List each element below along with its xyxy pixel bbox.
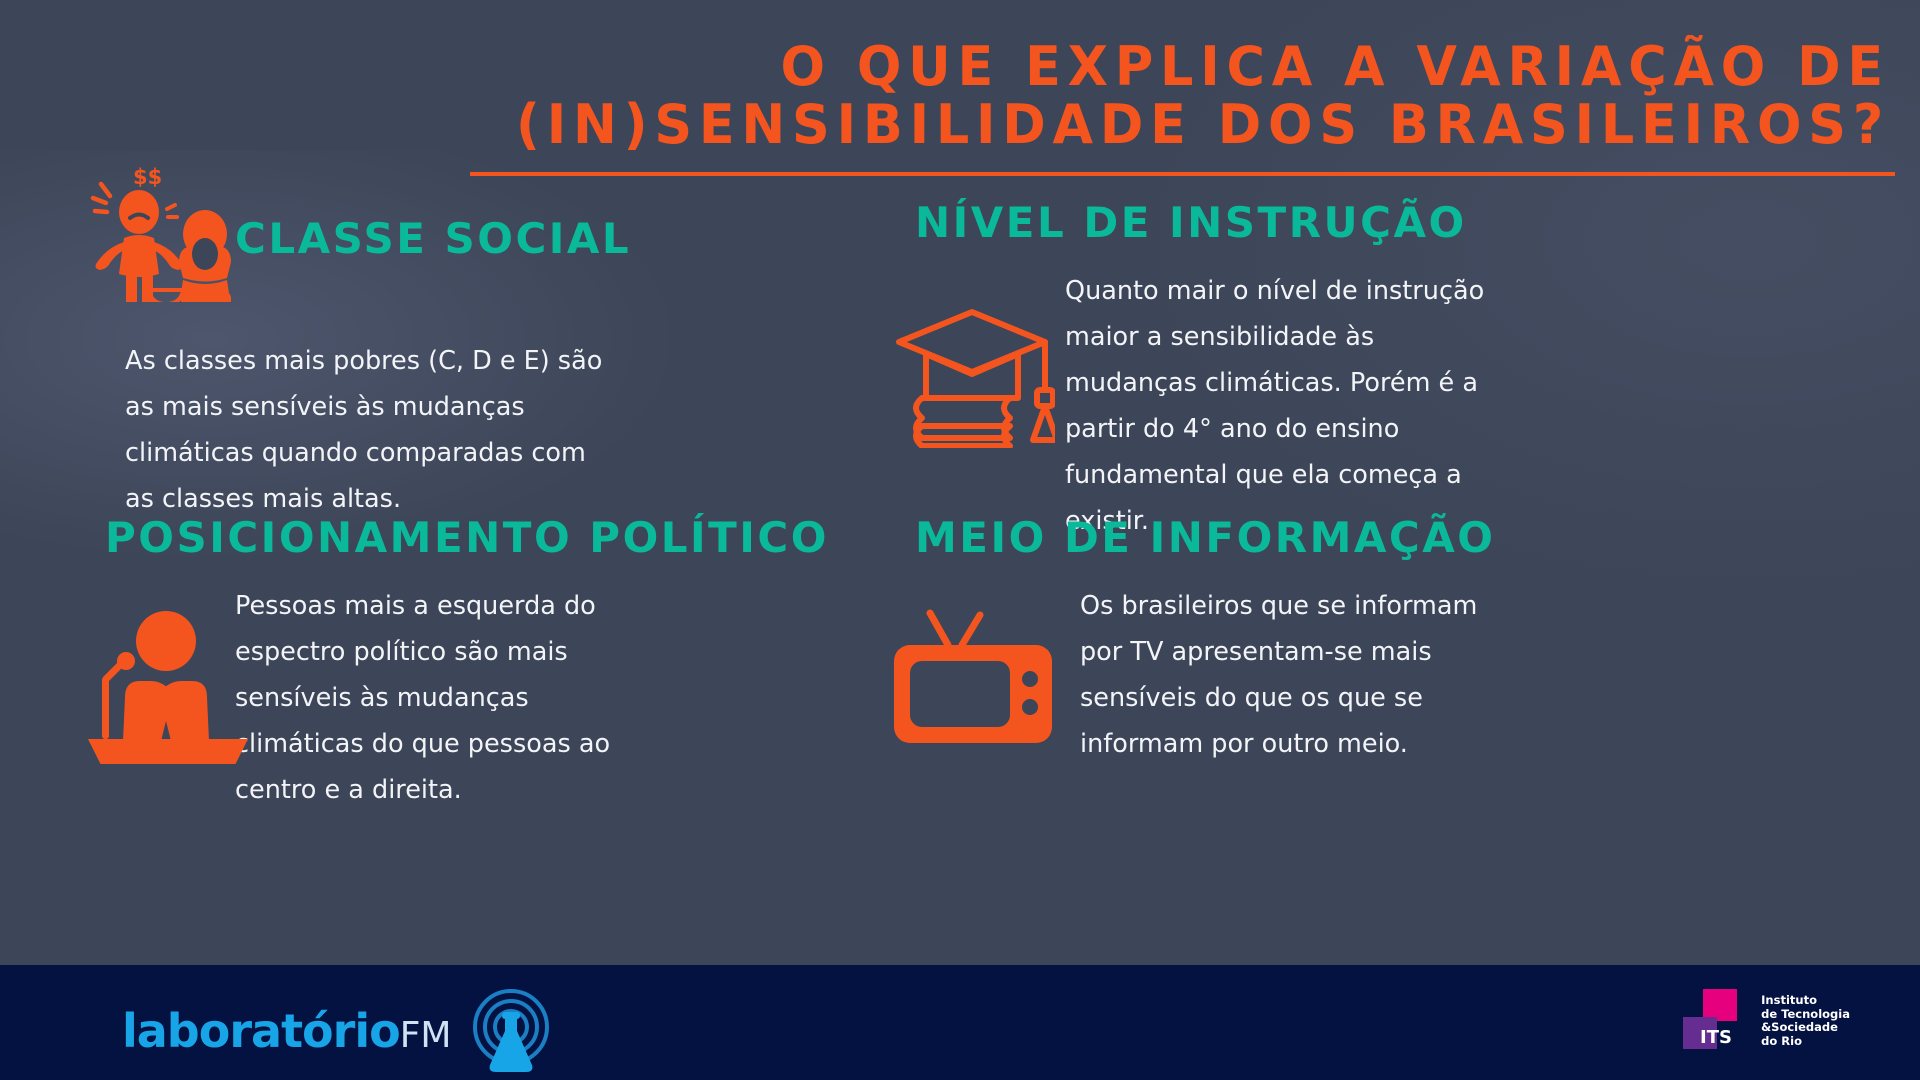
body-line: sensíveis às mudanças [235,675,885,721]
television-icon [890,607,1065,751]
section-body-posicionamento-politico: Pessoas mais a esquerda do espectro polí… [235,583,885,813]
its-line: Instituto [1761,994,1850,1008]
section-body-meio-de-informacao: Os brasileiros que se informam por TV ap… [1080,583,1890,767]
section-heading-posicionamento-politico: POSICIONAMENTO POLÍTICO [105,515,885,561]
section-heading-nivel-de-instrucao: NÍVEL DE INSTRUÇÃO [915,200,1890,246]
laboratorio-fm-wordmark: laboratórioFM [122,1008,452,1059]
body-line: por TV apresentam-se mais [1080,629,1890,675]
its-line: de Tecnologia [1761,1008,1850,1022]
body-line: espectro político são mais [235,629,885,675]
laboratorio-word: laboratório [122,1004,400,1058]
section-nivel-de-instrucao: NÍVEL DE INSTRUÇÃO [890,200,1890,544]
page-title: O QUE EXPLICA A VARIAÇÃO DE (IN)SENSIBIL… [470,38,1890,154]
its-mark-icon: ITS [1679,987,1751,1055]
body-line: climáticas quando comparadas com [125,430,855,476]
body-line: Quanto mair o nível de instrução [1065,268,1890,314]
body-line: mudanças climáticas. Porém é a [1065,360,1890,406]
its-rio-wordmark: Instituto de Tecnologia &Sociedade do Ri… [1761,994,1850,1048]
podium-speaker-icon [80,599,255,768]
its-line: &Sociedade [1761,1021,1850,1035]
section-body-classe-social: As classes mais pobres (C, D e E) são as… [125,338,855,522]
section-heading-meio-de-informacao: MEIO DE INFORMAÇÃO [915,515,1890,561]
graduation-cap-books-icon [890,298,1055,452]
footer-bar: laboratórioFM ITS [0,965,1920,1080]
section-posicionamento-politico: POSICIONAMENTO POLÍTICO [85,515,885,813]
body-line: Pessoas mais a esquerda do [235,583,885,629]
body-line: partir do 4° ano do ensino [1065,406,1890,452]
section-meio-de-informacao: MEIO DE INFORMAÇÃO [890,515,1890,767]
body-line: as mais sensíveis às mudanças [125,384,855,430]
body-line: maior a sensibilidade às [1065,314,1890,360]
body-line: climáticas do que pessoas ao [235,721,885,767]
section-body-nivel-de-instrucao: Quanto mair o nível de instrução maior a… [1065,268,1890,544]
section-heading-classe-social: CLASSE SOCIAL [235,216,631,262]
svg-text:$$: $$ [133,165,162,189]
body-line: As classes mais pobres (C, D e E) são [125,338,855,384]
fm-suffix: FM [400,1015,452,1056]
body-line: sensíveis do que os que se [1080,675,1890,721]
laboratorio-fm-logo[interactable]: laboratórioFM [122,987,556,1079]
infographic-canvas: O QUE EXPLICA A VARIAÇÃO DE (IN)SENSIBIL… [0,0,1920,1080]
body-line: centro e a direita. [235,767,885,813]
body-line: fundamental que ela começa a [1065,452,1890,498]
svg-text:ITS: ITS [1700,1027,1732,1048]
its-rio-logo[interactable]: ITS Instituto de Tecnologia &Sociedade d… [1679,987,1850,1055]
flask-broadcast-icon [466,987,556,1079]
title-line-2: (IN)SENSIBILIDADE DOS BRASILEIROS? [513,96,1890,154]
title-divider [470,172,1895,176]
its-line: do Rio [1761,1035,1850,1049]
title-line-1: O QUE EXPLICA A VARIAÇÃO DE [513,38,1890,96]
section-classe-social: $$ [95,200,855,522]
poor-people-icon: $$ [77,162,252,306]
body-line: Os brasileiros que se informam [1080,583,1890,629]
body-line: informam por outro meio. [1080,721,1890,767]
